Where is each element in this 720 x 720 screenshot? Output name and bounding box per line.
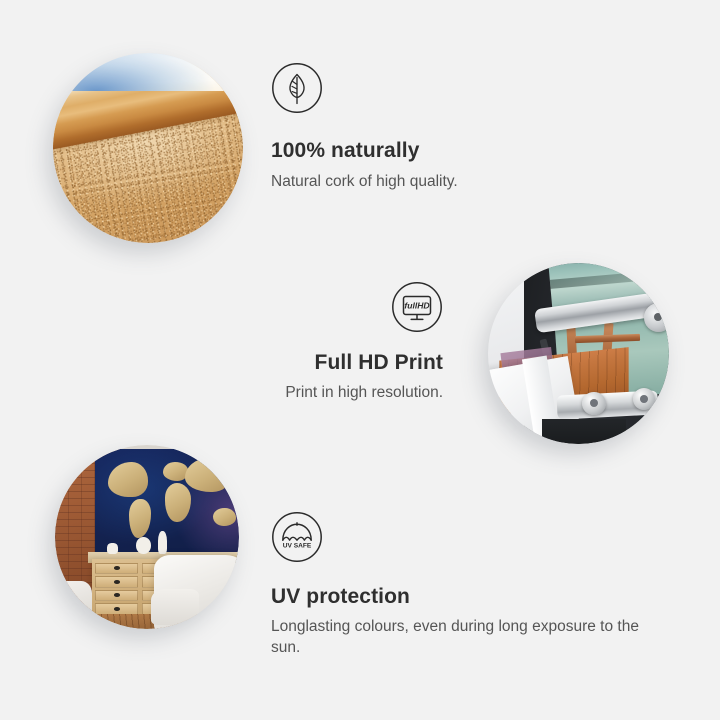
- full-hd-icon-wrapper: fullHD: [183, 281, 443, 333]
- feature-title: 100% naturally: [271, 138, 458, 163]
- continent-australia: [213, 508, 236, 526]
- drawer-knob: [114, 580, 121, 584]
- cork-sky-backdrop: [53, 53, 243, 91]
- continent-asia: [185, 458, 231, 492]
- feature-description: Print in high resolution.: [183, 383, 443, 403]
- uv-safe-icon-label: UV SAFE: [283, 542, 312, 549]
- feature-description: Natural cork of high quality.: [271, 172, 458, 192]
- feature-block-natural: 100% naturally Natural cork of high qual…: [271, 62, 458, 193]
- continent-africa: [165, 483, 191, 522]
- living-room-image: [55, 445, 239, 629]
- leaf-icon: [271, 62, 323, 114]
- full-hd-monitor-icon: fullHD: [391, 281, 443, 333]
- roller-knob-left: [582, 392, 606, 416]
- cork-board-image: [53, 53, 243, 243]
- feature-panel: 100% naturally Natural cork of high qual…: [0, 0, 720, 720]
- feature-description: Longlasting colours, even during long ex…: [271, 617, 641, 658]
- uv-safe-umbrella-icon: UV SAFE: [271, 511, 323, 563]
- cork-image-inner: [53, 53, 243, 243]
- uv-icon-wrapper: UV SAFE: [271, 511, 641, 563]
- machine-base: [542, 419, 625, 444]
- armchair-arm: [151, 589, 199, 626]
- room-image-inner: [55, 445, 239, 629]
- decor-object-c: [158, 531, 167, 553]
- continent-south-america: [129, 499, 151, 538]
- decor-object-b: [136, 537, 151, 554]
- second-armchair: [55, 581, 92, 629]
- roller-end-cap: [644, 303, 669, 332]
- full-hd-icon-label: fullHD: [404, 300, 429, 310]
- printer-image-inner: [488, 263, 669, 444]
- feature-block-uv: UV SAFE UV protection Longlasting colour…: [271, 511, 641, 658]
- feature-block-fullhd: fullHD Full HD Print Print in high resol…: [183, 281, 443, 404]
- decor-object-a: [107, 543, 118, 554]
- feature-title: UV protection: [271, 584, 641, 609]
- continent-north-america: [108, 462, 148, 496]
- feature-title: Full HD Print: [183, 350, 443, 375]
- roller-knob-right: [633, 388, 655, 410]
- printing-machine-image: [488, 263, 669, 444]
- leaf-icon-wrapper: [271, 62, 458, 114]
